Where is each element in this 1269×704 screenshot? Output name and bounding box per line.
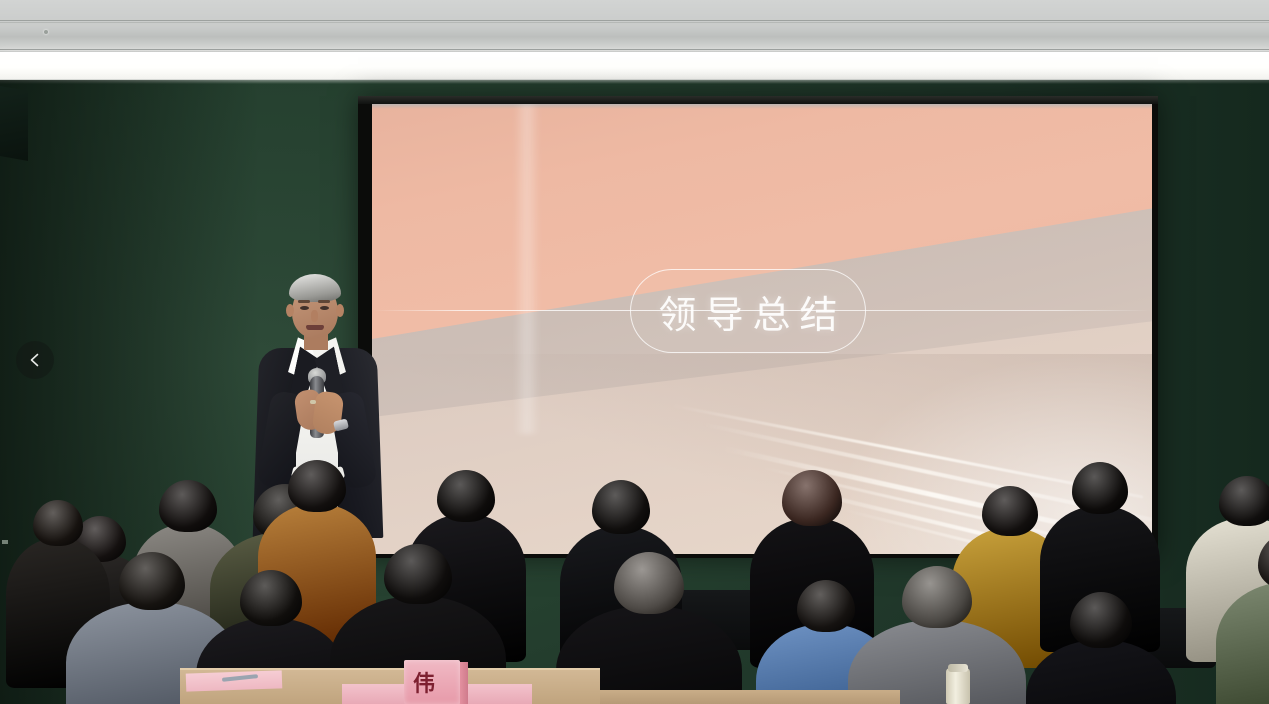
audience-head bbox=[592, 480, 650, 534]
water-bottle bbox=[946, 668, 970, 704]
presenter-nose bbox=[311, 310, 318, 322]
attendee-black-front-right bbox=[1026, 592, 1176, 704]
attendee-sage-jacket bbox=[1216, 532, 1269, 704]
photo-viewer-stage: 领导总结 bbox=[0, 0, 1269, 704]
presenter-hair bbox=[289, 274, 341, 302]
name-placard-edge bbox=[460, 662, 468, 704]
chevron-left-icon bbox=[27, 352, 43, 368]
audience-head bbox=[614, 552, 684, 614]
audience-head bbox=[33, 500, 83, 546]
audience-head bbox=[384, 544, 452, 604]
audience-head bbox=[982, 486, 1038, 536]
audience-head bbox=[1258, 532, 1269, 590]
audience-head bbox=[437, 470, 495, 522]
audience-head bbox=[288, 460, 346, 512]
slide-title-text: 领导总结 bbox=[649, 284, 846, 339]
ceiling-panel-line bbox=[0, 22, 1269, 23]
previous-image-button[interactable] bbox=[16, 341, 54, 379]
audience-head bbox=[797, 580, 855, 632]
name-placard-text: 伟 bbox=[413, 666, 435, 698]
attendee-gray-sweater bbox=[848, 566, 1026, 704]
audience-head bbox=[782, 470, 842, 526]
slide-light-streak bbox=[514, 104, 540, 434]
presenter-ear bbox=[336, 304, 344, 317]
ceiling-panel-line bbox=[0, 49, 1269, 50]
audience-head bbox=[1219, 476, 1269, 526]
mid-table bbox=[600, 690, 900, 704]
audience-head bbox=[240, 570, 302, 626]
audience-torso bbox=[1026, 640, 1176, 704]
water-bottle-cap bbox=[948, 664, 968, 672]
audience-head bbox=[159, 480, 217, 532]
ceiling-light-strip bbox=[0, 52, 1269, 80]
presenter-eyebrow bbox=[298, 300, 310, 303]
presenter-eye bbox=[320, 306, 329, 310]
ceiling bbox=[0, 0, 1269, 80]
presenter-mouth bbox=[306, 325, 324, 330]
audience-head bbox=[1070, 592, 1132, 648]
presenter-eyebrow bbox=[318, 300, 330, 303]
presenter-eye bbox=[300, 306, 309, 310]
ceiling-screw bbox=[44, 30, 48, 34]
pink-paper bbox=[186, 670, 283, 691]
presenter-ring bbox=[310, 400, 316, 404]
audience-head bbox=[119, 552, 185, 610]
audience-head bbox=[1072, 462, 1128, 514]
wall-mounted-speaker bbox=[0, 85, 28, 161]
audience-head bbox=[902, 566, 972, 628]
ceiling-panel-line bbox=[0, 20, 1269, 21]
audience bbox=[0, 440, 1269, 704]
name-placard: 伟 bbox=[404, 660, 460, 704]
audience-torso bbox=[1216, 582, 1269, 704]
slide-top-edge bbox=[372, 104, 1152, 109]
presenter-ear bbox=[286, 304, 294, 317]
projection-screen-top-bar bbox=[358, 96, 1158, 104]
slide-title-pill: 领导总结 bbox=[630, 269, 866, 353]
